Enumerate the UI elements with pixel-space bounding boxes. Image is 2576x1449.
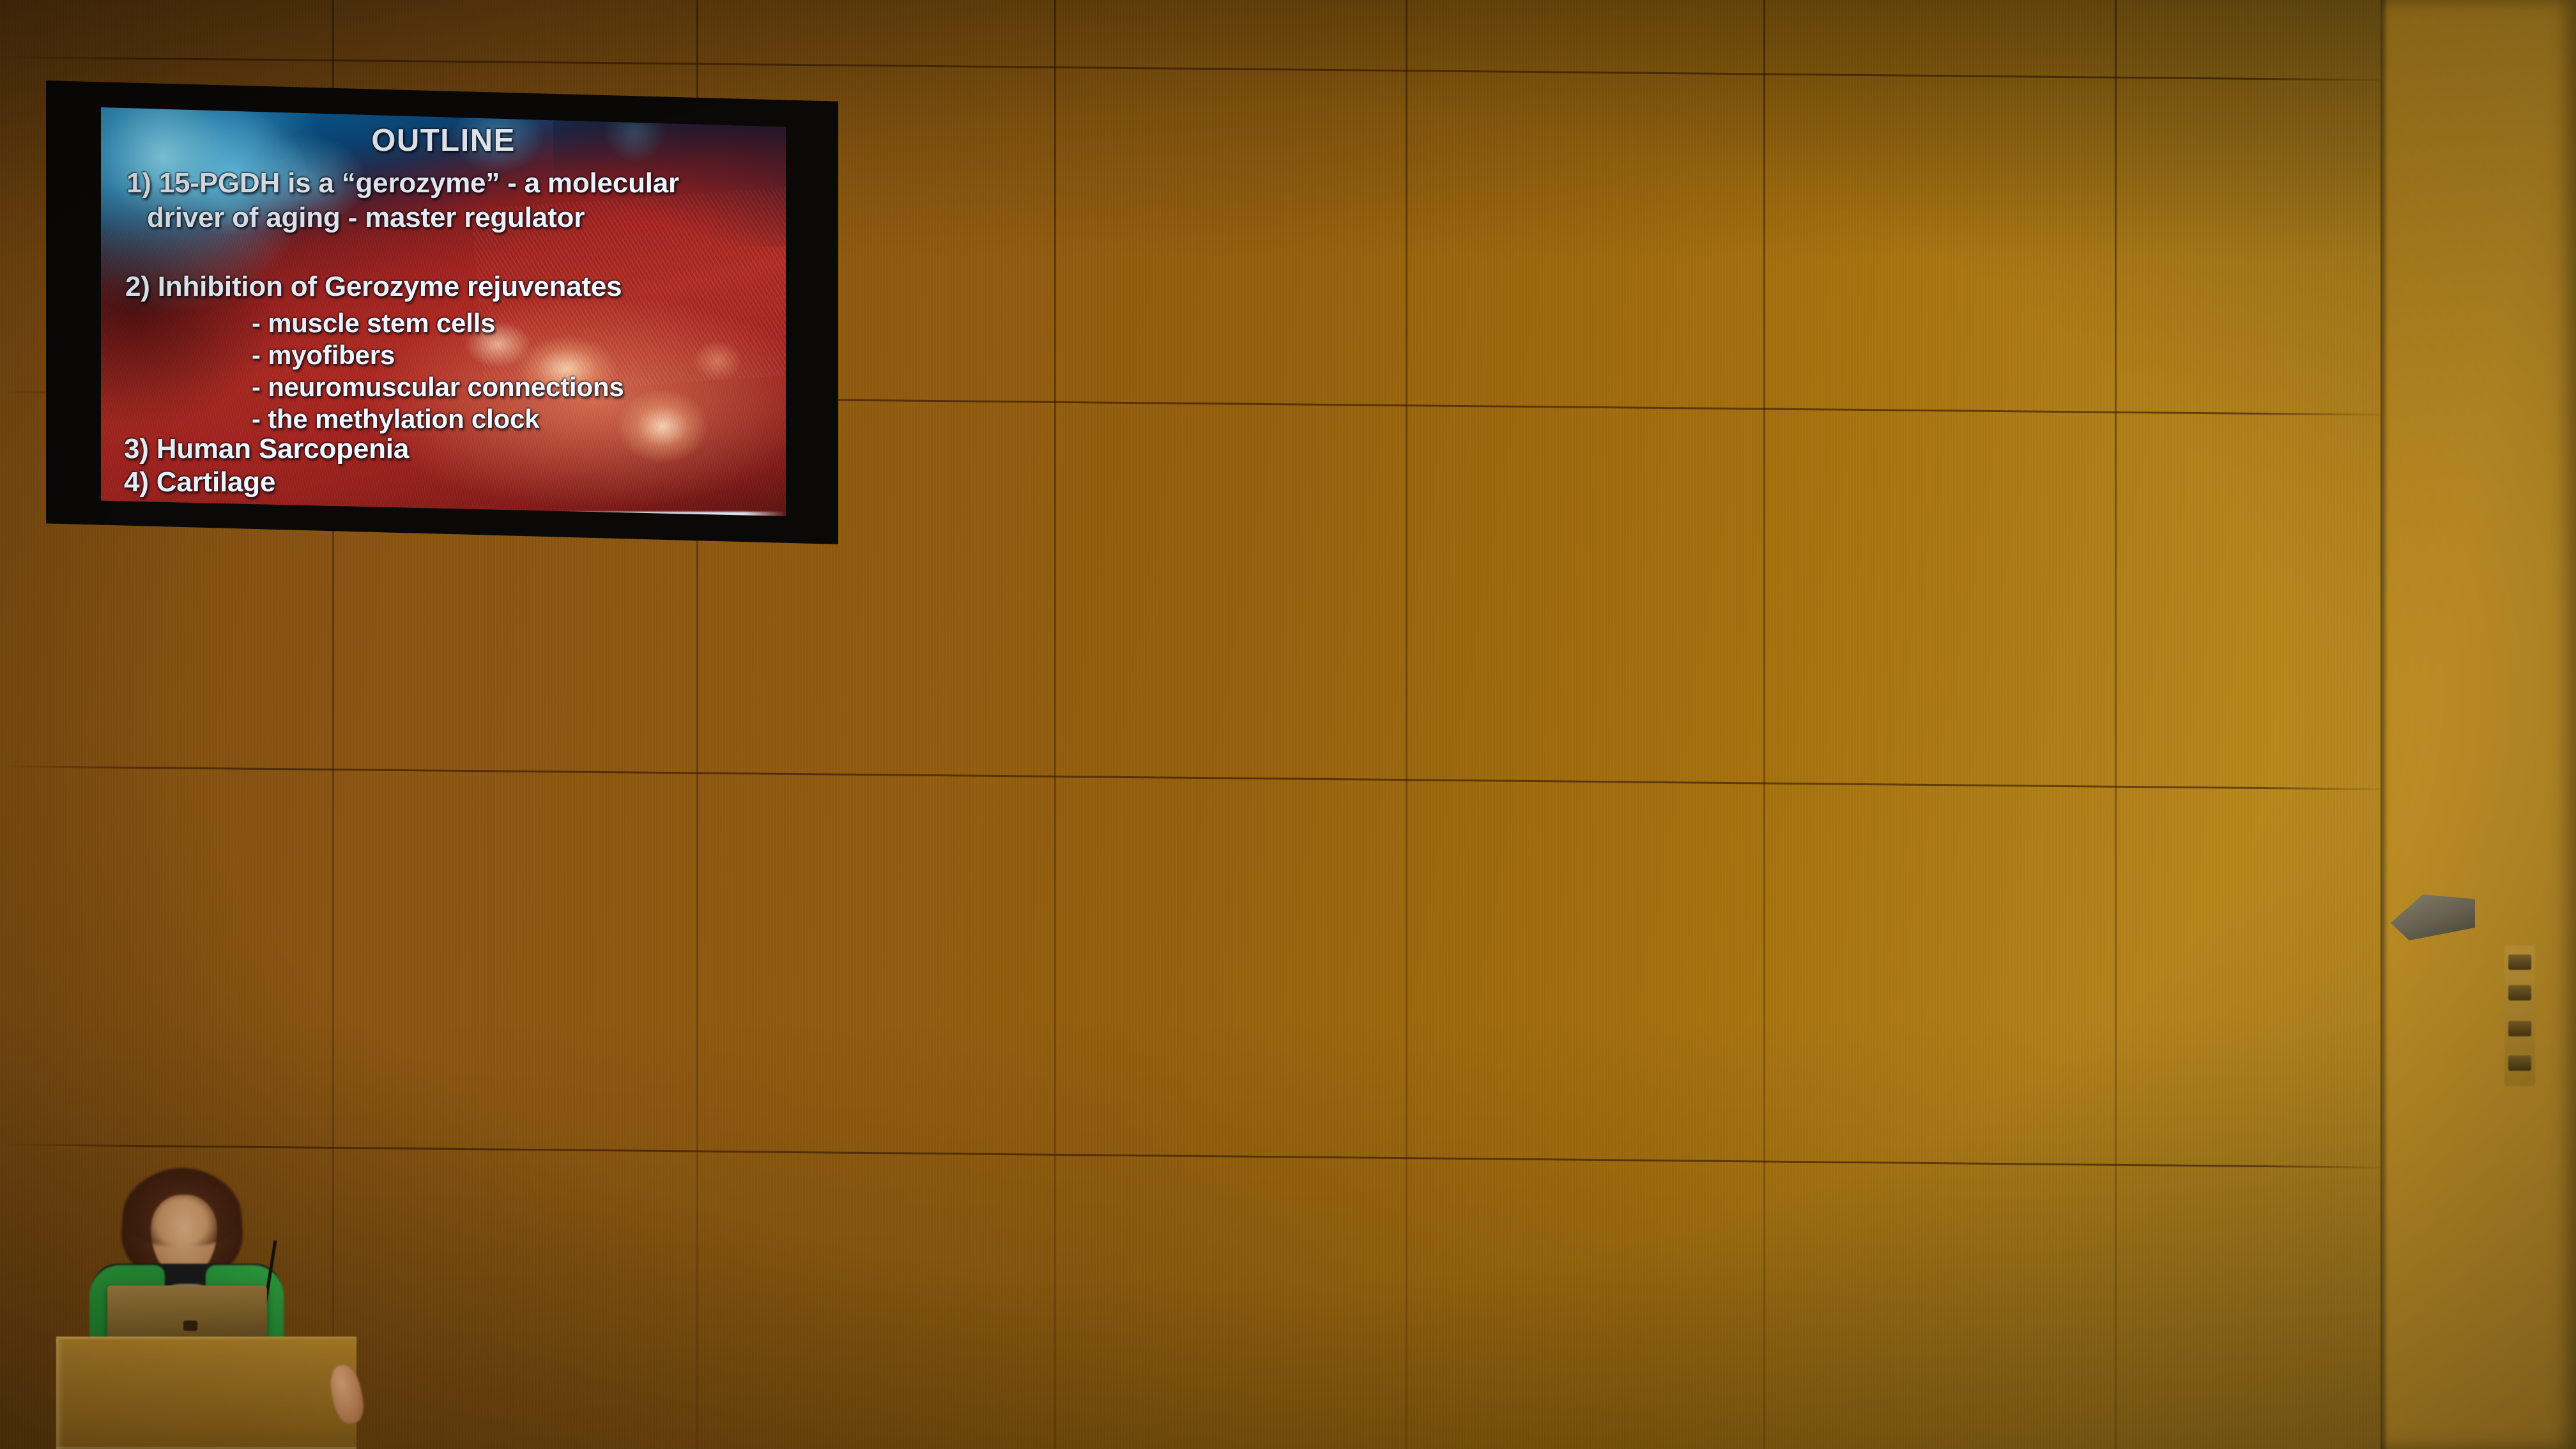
- slide-item-4: 4) Cartilage: [124, 468, 275, 498]
- slide-item-3: 3) Human Sarcopenia: [124, 434, 409, 464]
- wall-panel-seam: [1054, 0, 1056, 1449]
- slide-item-2-sub-4: - the methylation clock: [252, 404, 540, 434]
- wall-right-column: [2380, 0, 2576, 1449]
- slide-item-1-line-2: driver of aging - master regulator: [147, 203, 585, 233]
- wall-plate-row: [2508, 954, 2531, 970]
- slide-item-2-sub-1: - muscle stem cells: [252, 308, 495, 339]
- slide-item-1-line-1: 1) 15-PGDH is a “gerozyme” - a molecular: [126, 169, 679, 199]
- projected-slide: OUTLINE 1) 15-PGDH is a “gerozyme” - a m…: [101, 107, 786, 516]
- podium: [56, 1339, 356, 1449]
- slide-item-2-sub-2: - myofibers: [252, 340, 395, 371]
- slide-item-2: 2) Inhibition of Gerozyme rejuvenates: [125, 272, 622, 302]
- podium-area: [0, 1117, 396, 1449]
- wall-panel-seam: [2115, 0, 2117, 1449]
- wall-plate-row: [2508, 1021, 2531, 1036]
- slide-title: OUTLINE: [101, 125, 786, 157]
- wall-control-panel[interactable]: [2504, 946, 2535, 1086]
- wall-plate-row: [2508, 985, 2531, 1000]
- slide-text-layer: OUTLINE 1) 15-PGDH is a “gerozyme” - a m…: [101, 107, 786, 516]
- laptop-logo-icon: [183, 1321, 197, 1331]
- wall-panel-seam: [1763, 0, 1765, 1449]
- wall-panel-seam: [1406, 0, 1407, 1449]
- presenter-hair-front: [123, 1169, 241, 1246]
- laptop[interactable]: [107, 1285, 267, 1342]
- podium-left-edge: [56, 1339, 64, 1449]
- slide-item-2-sub-3: - neuromuscular connections: [252, 372, 624, 402]
- wall-plate-row: [2508, 1055, 2531, 1071]
- lecture-hall-photo: OUTLINE 1) 15-PGDH is a “gerozyme” - a m…: [0, 0, 2576, 1449]
